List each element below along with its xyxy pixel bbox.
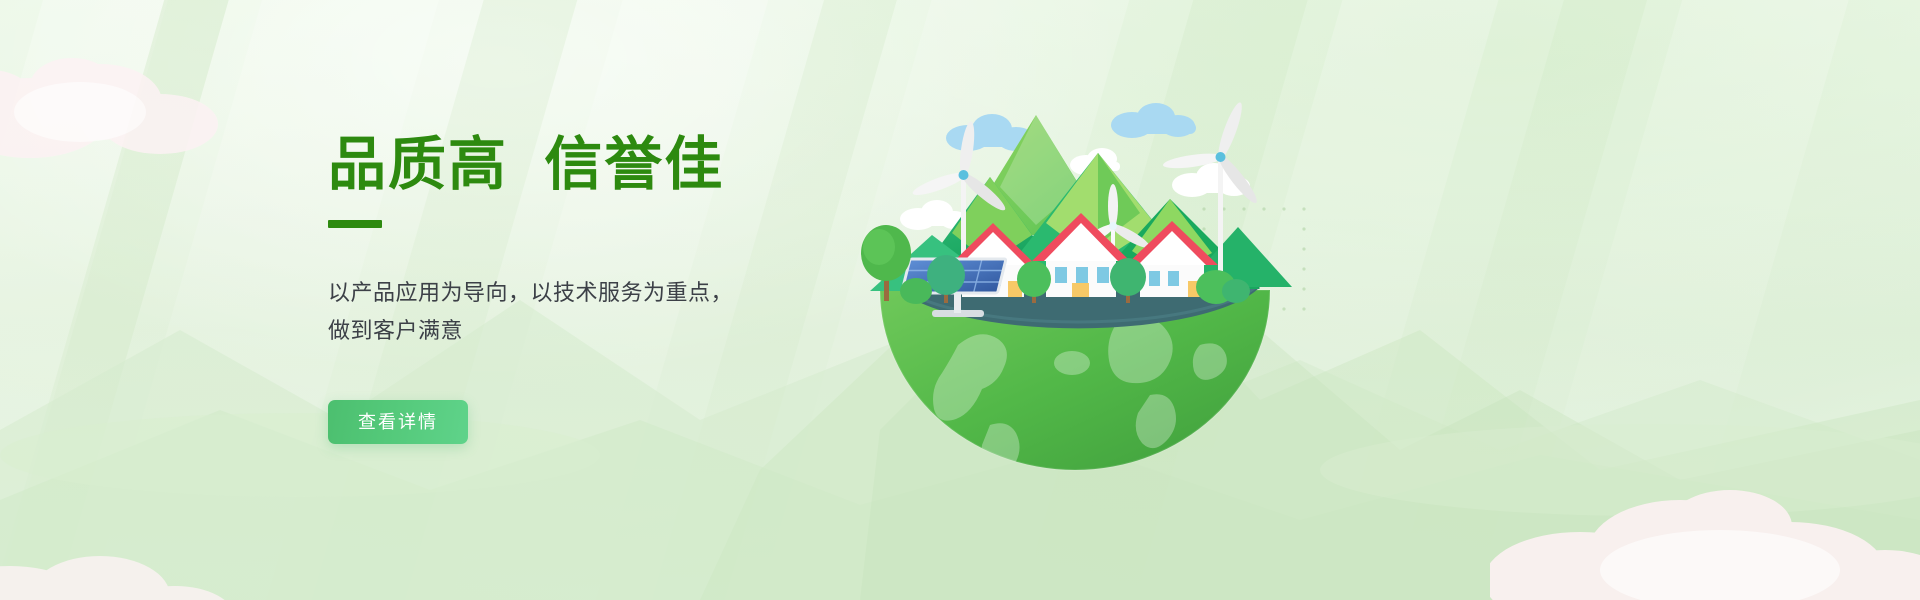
title-divider (328, 220, 382, 228)
view-details-button[interactable]: 查看详情 (328, 400, 468, 444)
illustration-svg (840, 95, 1310, 515)
page-title: 品质高 信誉佳 (328, 128, 888, 202)
cloud-blue-right (1111, 103, 1196, 138)
hero-banner: 品质高 信誉佳 以产品应用为导向，以技术服务为重点， 做到客户满意 查看详情 (0, 0, 1920, 600)
banner-subtitle: 以产品应用为导向，以技术服务为重点， 做到客户满意 (328, 274, 888, 350)
cloud-bottom-right-decoration (1490, 440, 1920, 600)
tree-bush-left (900, 278, 932, 304)
subtitle-line-2: 做到客户满意 (328, 312, 888, 350)
subtitle-line-1: 以产品应用为导向，以技术服务为重点， (328, 274, 888, 312)
green-energy-illustration (840, 95, 1310, 515)
cloud-bottom-left-decoration (0, 510, 250, 600)
cloud-top-left-decoration (0, 40, 260, 170)
banner-copy: 品质高 信誉佳 以产品应用为导向，以技术服务为重点， 做到客户满意 查看详情 (328, 128, 888, 444)
